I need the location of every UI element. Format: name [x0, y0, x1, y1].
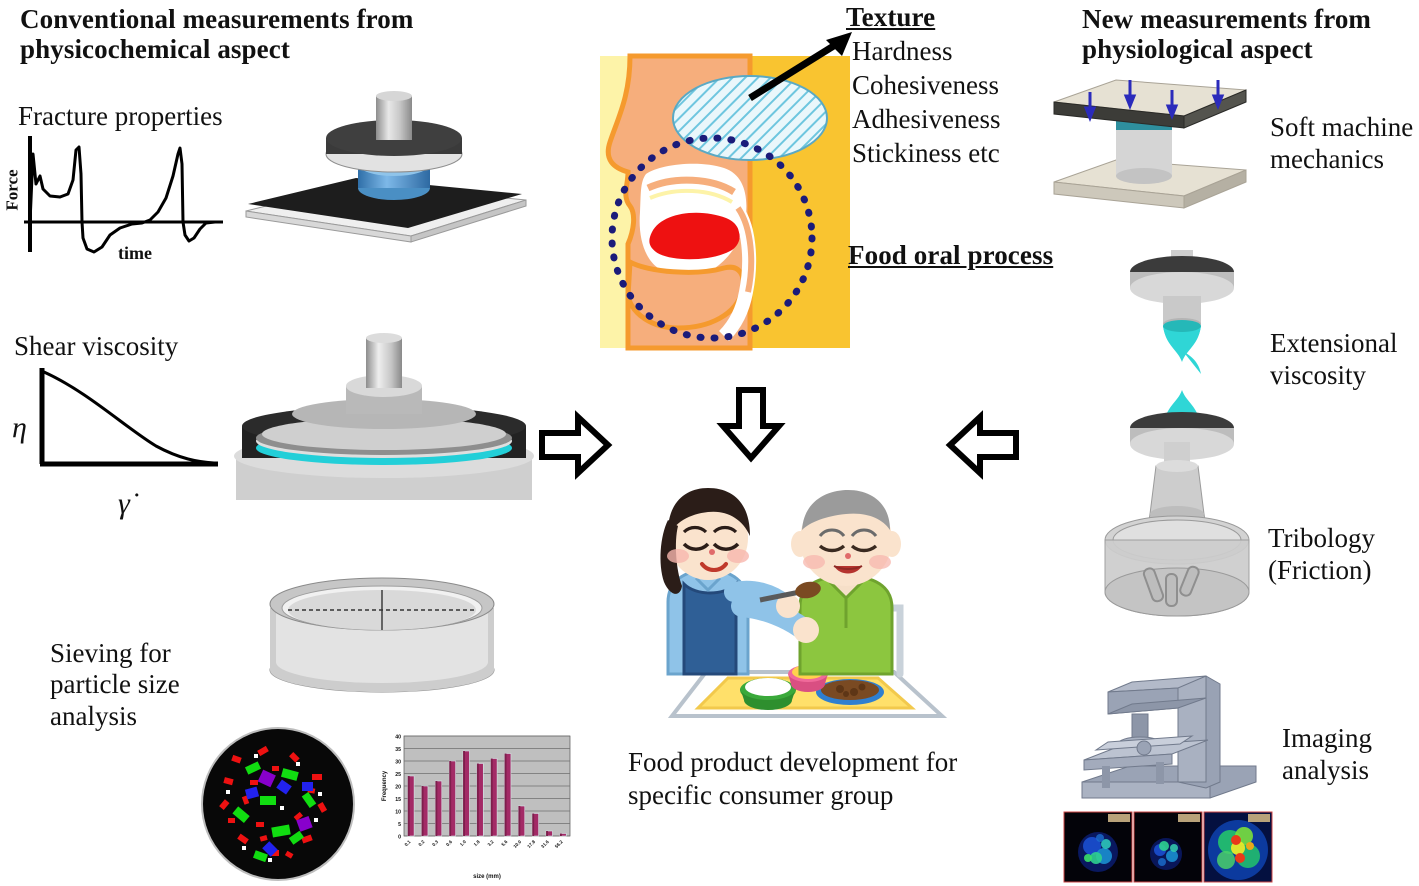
texture-item-hardness: Hardness: [852, 34, 1000, 68]
shear-viscosity-title: Shear viscosity: [14, 331, 178, 362]
svg-text:3.2: 3.2: [487, 839, 495, 847]
tribology-label: Tribology (Friction): [1268, 522, 1375, 587]
fracture-chart-ylabel: Force: [3, 169, 23, 210]
svg-text:10.0: 10.0: [512, 839, 522, 849]
micrograph-1: [1064, 812, 1132, 882]
outcome-caption: Food product development for specific co…: [628, 746, 957, 813]
fracture-properties-title: Fracture properties: [18, 101, 223, 132]
extensional-viscosity-label-line2: viscosity: [1270, 359, 1397, 391]
extensional-viscosity-label: Extensional viscosity: [1270, 327, 1397, 392]
extensional-viscosity-apparatus: [1108, 250, 1260, 450]
microscope-apparatus: [1060, 670, 1280, 820]
svg-text:35: 35: [395, 747, 401, 753]
svg-text:40: 40: [395, 735, 401, 741]
tribology-label-line1: Tribology: [1268, 522, 1375, 554]
shear-viscosity-xlabel: γ̇: [118, 487, 130, 521]
outcome-caption-line1: Food product development for: [628, 746, 957, 779]
right-heading-line1: New measurements from: [1082, 4, 1419, 34]
left-heading-line1: Conventional measurements from: [20, 4, 440, 34]
rotational-rheometer-apparatus: [236, 338, 532, 500]
svg-text:56.2: 56.2: [554, 839, 564, 849]
svg-text:15: 15: [395, 797, 401, 803]
arrow-left-icon: [948, 415, 1018, 475]
sieving-title: Sieving for particle size analysis: [50, 638, 180, 732]
svg-text:Frequency: Frequency: [382, 770, 388, 801]
svg-text:0.3: 0.3: [431, 839, 439, 847]
soft-machine-label-line2: mechanics: [1270, 143, 1413, 175]
arrow-right-icon: [540, 415, 610, 475]
imaging-analysis-label-line2: analysis: [1282, 754, 1372, 786]
svg-text:size (mm): size (mm): [473, 874, 501, 880]
svg-text:0.6: 0.6: [445, 839, 453, 847]
soft-machine-mechanics-apparatus: [1040, 78, 1260, 218]
shear-viscosity-ylabel: η: [12, 411, 27, 445]
caregiver-feeding-illustration: [650, 478, 950, 728]
fracture-chart-xlabel: time: [118, 243, 152, 264]
arrow-down-icon: [720, 388, 782, 460]
svg-text:5: 5: [398, 822, 401, 828]
micrograph-2: [1134, 812, 1202, 882]
sieve-pan-apparatus: [262, 552, 502, 697]
svg-text:0.1: 0.1: [404, 839, 412, 847]
tribology-label-line2: (Friction): [1268, 554, 1375, 586]
particle-micrograph: [198, 726, 358, 882]
right-column-heading: New measurements from physiological aspe…: [1082, 4, 1419, 64]
left-column-heading: Conventional measurements from physicoch…: [20, 4, 440, 64]
left-heading-line2: physicochemical aspect: [20, 34, 440, 64]
food-oral-process-label: Food oral process: [848, 240, 1053, 270]
texture-attribute-list: Hardness Cohesiveness Adhesiveness Stick…: [852, 34, 1000, 170]
svg-text:30: 30: [395, 760, 401, 766]
texture-heading: Texture: [846, 2, 935, 32]
texture-analyzer-apparatus: [236, 96, 536, 256]
texture-pointer-arrow: [740, 28, 860, 108]
svg-text:25: 25: [395, 772, 401, 778]
svg-text:0.2: 0.2: [417, 839, 425, 847]
svg-text:1.8: 1.8: [473, 839, 481, 847]
svg-text:20: 20: [395, 785, 401, 791]
svg-text:17.8: 17.8: [526, 839, 536, 849]
outcome-caption-line2: specific consumer group: [628, 779, 957, 812]
sieving-title-line3: analysis: [50, 701, 180, 732]
imaging-analysis-label-line1: Imaging: [1282, 722, 1372, 754]
texture-item-adhesiveness: Adhesiveness: [852, 102, 1000, 136]
texture-item-cohesiveness: Cohesiveness: [852, 68, 1000, 102]
svg-text:5.6: 5.6: [500, 839, 508, 847]
sieving-title-line1: Sieving for: [50, 638, 180, 669]
svg-text:1.0: 1.0: [459, 839, 467, 847]
texture-item-stickiness: Stickiness etc: [852, 136, 1000, 170]
micrograph-panel-group: [1064, 812, 1272, 882]
extensional-viscosity-label-line1: Extensional: [1270, 327, 1397, 359]
svg-text:10: 10: [395, 810, 401, 816]
particle-size-histogram: 05101520253035400.10.20.30.61.01.83.25.6…: [374, 728, 574, 886]
soft-machine-label-line1: Soft machine: [1270, 111, 1413, 143]
svg-text:0: 0: [398, 835, 401, 841]
imaging-analysis-label: Imaging analysis: [1282, 722, 1372, 787]
svg-text:31.6: 31.6: [540, 839, 550, 849]
right-heading-line2: physiological aspect: [1082, 34, 1419, 64]
tribology-apparatus: [1088, 442, 1268, 642]
soft-machine-mechanics-label: Soft machine mechanics: [1270, 111, 1413, 176]
micrograph-3: [1204, 812, 1272, 882]
shear-viscosity-chart: [28, 366, 224, 491]
sieving-title-line2: particle size: [50, 669, 180, 700]
